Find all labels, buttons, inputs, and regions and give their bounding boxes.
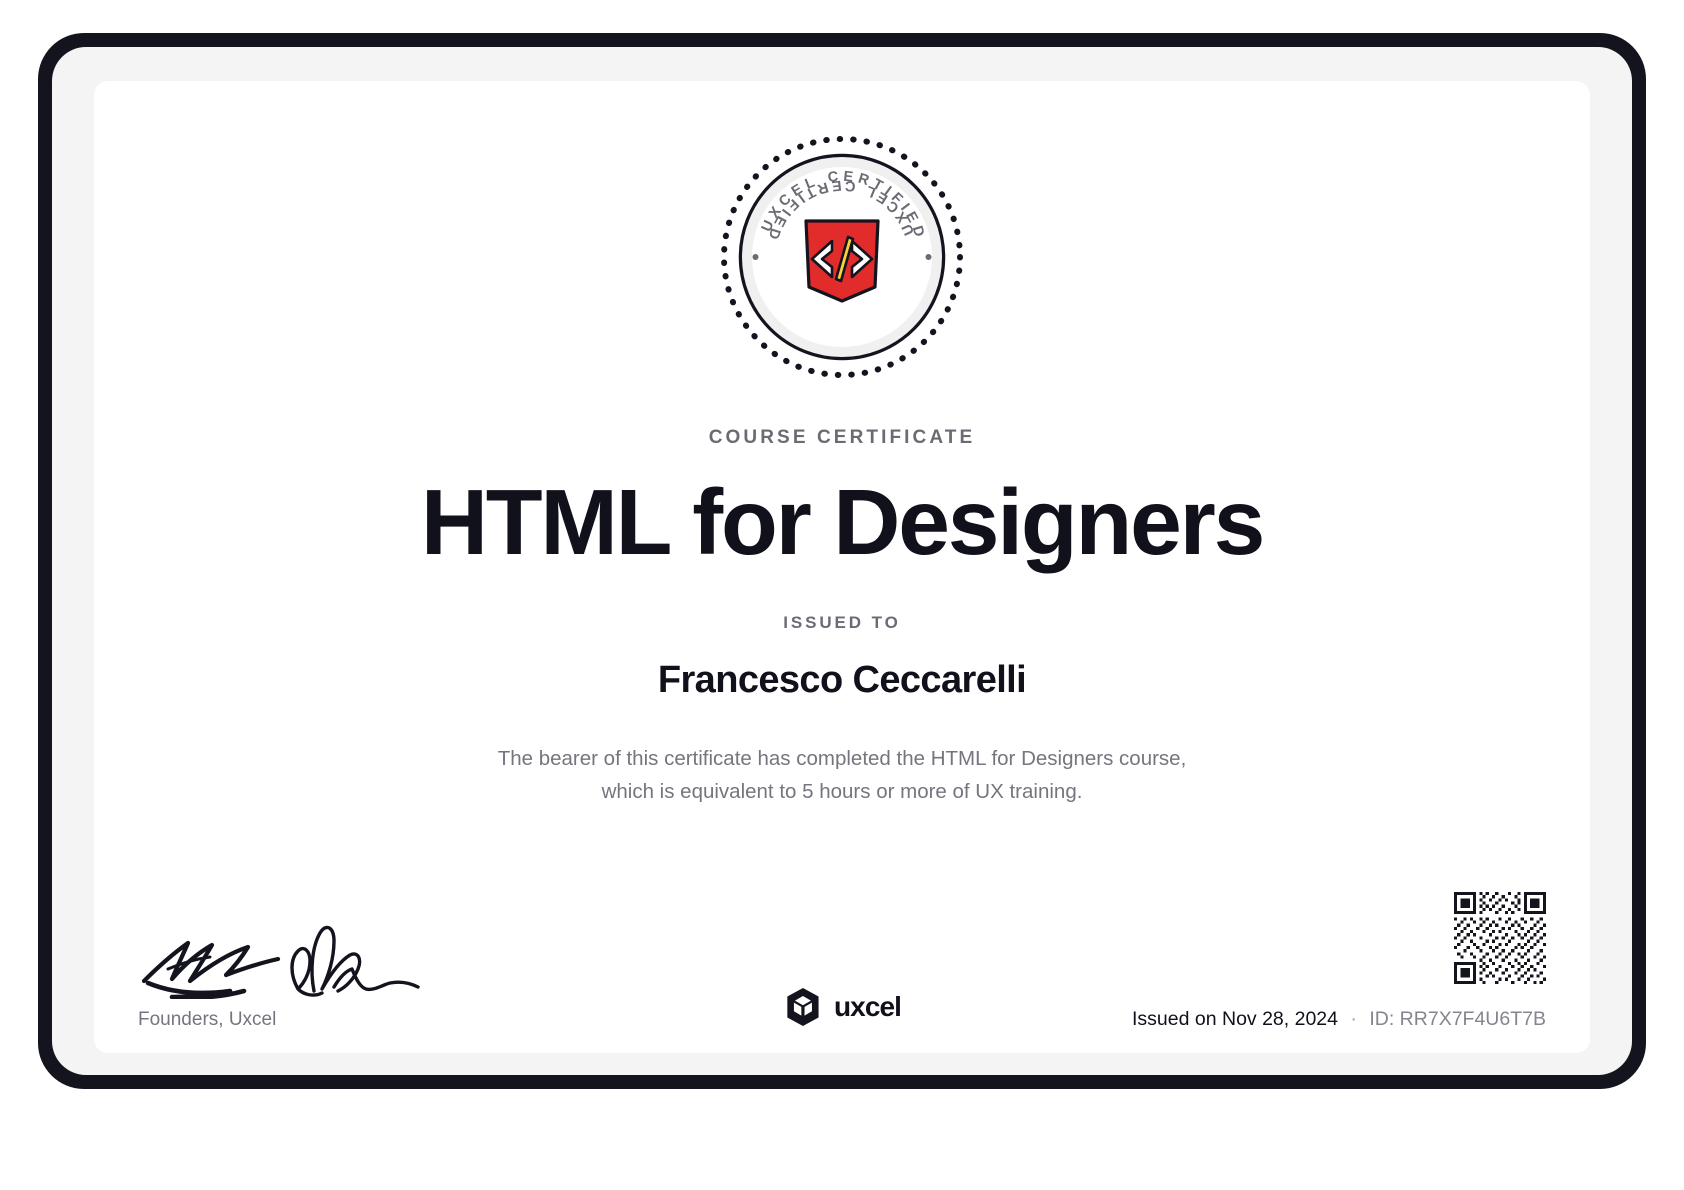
certificate-mat: UXCEL CERTIFIED UXCEL CERTIFIED	[52, 47, 1632, 1075]
certificate-body: UXCEL CERTIFIED UXCEL CERTIFIED	[94, 81, 1590, 1053]
meta-separator: ·	[1343, 1008, 1364, 1030]
recipient-name: Francesco Ceccarelli	[658, 659, 1026, 702]
certificate-footer: Founders, Uxcel uxcel	[94, 861, 1590, 1031]
brand-wordmark: uxcel	[834, 991, 901, 1023]
signature-group: Founders, Uxcel	[138, 913, 558, 1031]
certificate-meta: Issued on Nov 28, 2024 · ID: RR7X7F4U6T7…	[1132, 892, 1546, 1031]
uxcel-cube-logo-icon	[783, 987, 823, 1027]
issued-to-label: ISSUED TO	[783, 613, 900, 633]
meta-line: Issued on Nov 28, 2024 · ID: RR7X7F4U6T7…	[1132, 1008, 1546, 1031]
founders-label: Founders, Uxcel	[138, 1009, 558, 1031]
course-title: HTML for Designers	[421, 476, 1263, 569]
description-text: The bearer of this certificate has compl…	[498, 742, 1187, 808]
eyebrow-label: COURSE CERTIFICATE	[709, 427, 976, 449]
certificate-id: ID: RR7X7F4U6T7B	[1369, 1008, 1546, 1030]
qr-code-icon[interactable]	[1454, 892, 1546, 984]
signature-icon	[138, 913, 558, 999]
description-line-1: The bearer of this certificate has compl…	[498, 742, 1187, 775]
issued-on-date: Issued on Nov 28, 2024	[1132, 1008, 1338, 1030]
certificate-frame: UXCEL CERTIFIED UXCEL CERTIFIED	[38, 33, 1646, 1089]
description-line-2: which is equivalent to 5 hours or more o…	[498, 775, 1187, 808]
brand-logo: uxcel	[783, 987, 901, 1027]
uxcel-certified-seal-icon: UXCEL CERTIFIED UXCEL CERTIFIED	[718, 133, 966, 381]
